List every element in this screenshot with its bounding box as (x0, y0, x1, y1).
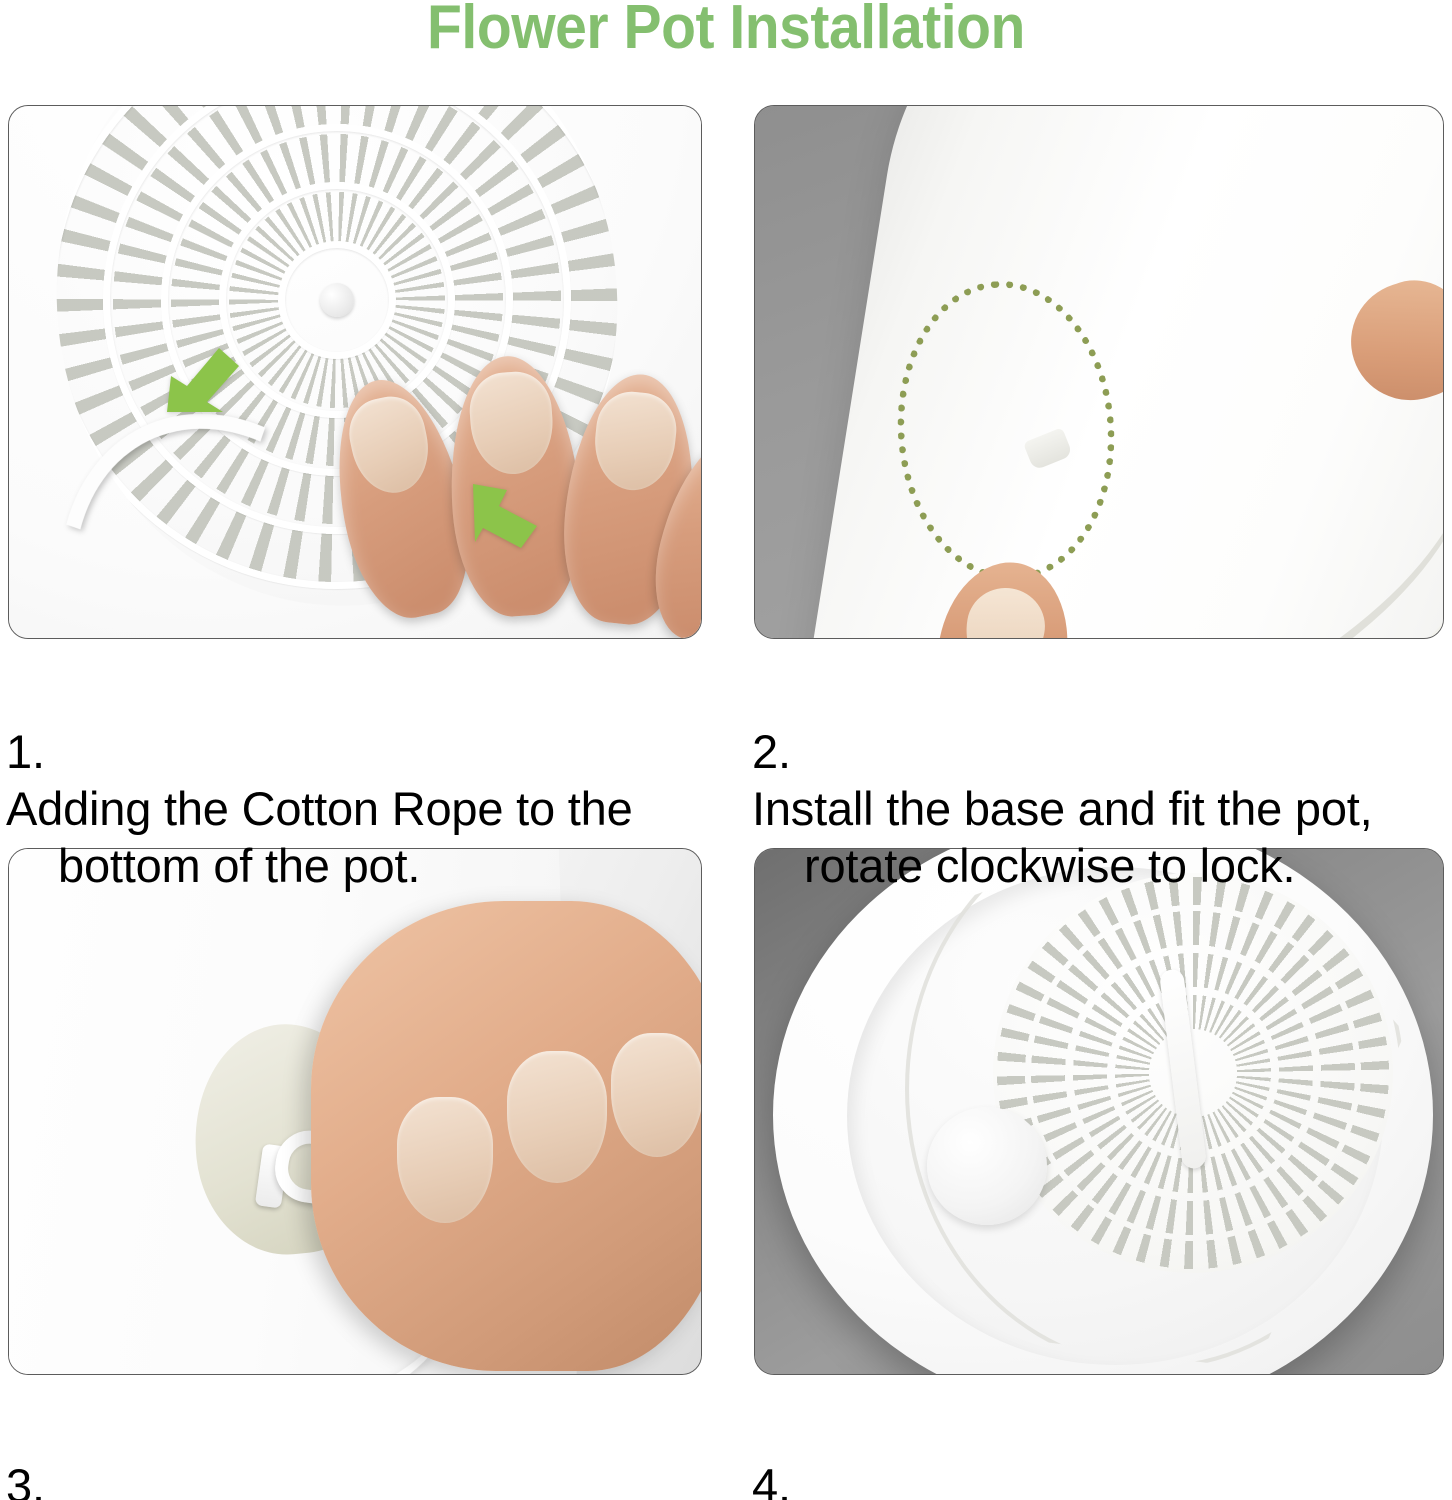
fingernail-2 (507, 1051, 607, 1183)
fingernail-2 (467, 369, 556, 476)
step-2-caption: 2. Install the base and fit the pot, rot… (752, 666, 1452, 951)
page-title: Flower Pot Installation (58, 0, 1394, 60)
fingernail-1 (397, 1097, 493, 1223)
step-2-number: 2. (752, 725, 791, 778)
step-1-photo (8, 105, 702, 639)
step-4-number: 4. (752, 1459, 791, 1500)
step-1-caption: 1. Adding the Cotton Rope to the bottom … (6, 666, 706, 951)
hand (311, 901, 702, 1371)
fingernail-3 (590, 388, 680, 494)
fingernail-3 (611, 1033, 702, 1157)
fingernail-1 (343, 390, 437, 500)
step-1 (8, 105, 702, 639)
step-3-caption: 3. Adding the watering lips on the openi… (6, 1400, 706, 1500)
step-1-number: 1. (6, 725, 45, 778)
step-3-number: 3. (6, 1459, 45, 1500)
step-2 (754, 105, 1444, 639)
step-2-caption-line-2: rotate clockwise to lock. (752, 837, 1452, 894)
step-1-caption-line-1: Adding the Cotton Rope to the (6, 782, 633, 835)
step-2-photo (754, 105, 1444, 639)
instruction-sheet: Flower Pot Installation (0, 0, 1452, 1500)
thumbnail-bottom (959, 582, 1051, 639)
step-1-caption-line-2: bottom of the pot. (6, 837, 706, 894)
step-4-caption: 4. Adding soil and putting your favorite… (752, 1400, 1452, 1500)
step-2-caption-line-1: Install the base and fit the pot, (752, 782, 1373, 835)
interior-knob (927, 1107, 1047, 1225)
